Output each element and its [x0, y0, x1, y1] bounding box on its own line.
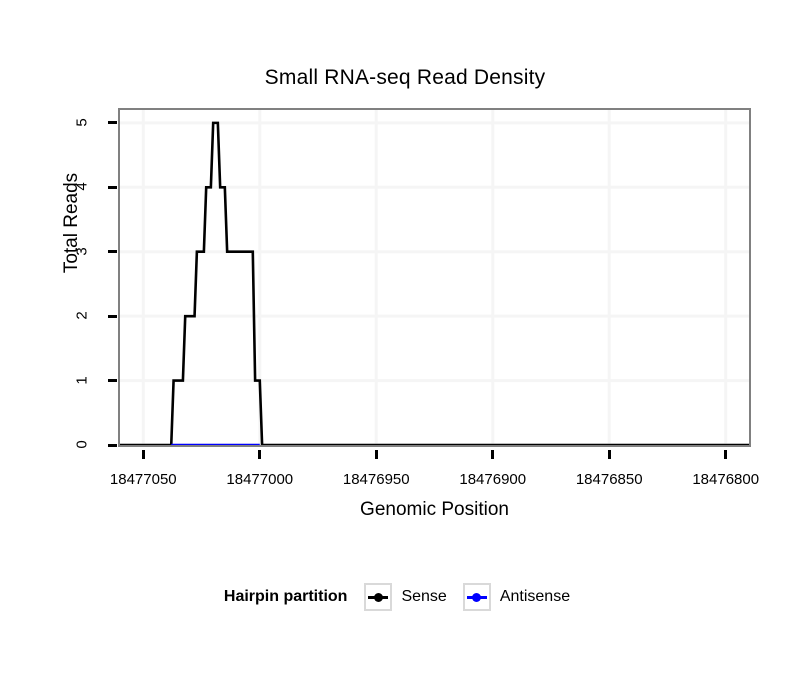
y-tick-mark [108, 379, 117, 382]
series-line-sense [120, 123, 749, 445]
y-tick-mark [108, 444, 117, 447]
x-tick-mark [142, 450, 145, 459]
legend-key-point-icon [374, 593, 383, 602]
chart-legend: Hairpin partition SenseAntisense [0, 580, 810, 614]
x-tick-mark [491, 450, 494, 459]
x-tick-mark [375, 450, 378, 459]
y-tick-label: 2 [74, 296, 91, 336]
legend-item-antisense[interactable]: Antisense [463, 583, 570, 611]
x-axis-label: Genomic Position [118, 499, 751, 521]
plot-panel [118, 108, 751, 447]
x-tick-mark [258, 450, 261, 459]
y-tick-label: 4 [74, 167, 91, 207]
y-tick-label: 3 [74, 231, 91, 271]
chart-figure: Small RNA-seq Read Density Total Reads G… [0, 0, 810, 690]
legend-key-sense [364, 583, 392, 611]
y-tick-mark [108, 186, 117, 189]
x-tick-mark [608, 450, 611, 459]
plot-area [120, 110, 749, 445]
y-tick-label: 5 [74, 102, 91, 142]
x-tick-label: 18477000 [200, 471, 320, 488]
x-tick-label: 18477050 [83, 471, 203, 488]
y-tick-mark [108, 315, 117, 318]
legend-label: Antisense [500, 588, 570, 606]
y-tick-label: 1 [74, 360, 91, 400]
y-axis-label: Total Reads [61, 133, 83, 313]
x-tick-label: 18476900 [433, 471, 553, 488]
x-tick-label: 18476850 [549, 471, 669, 488]
x-tick-label: 18476950 [316, 471, 436, 488]
x-tick-label: 18476800 [666, 471, 786, 488]
legend-title: Hairpin partition [224, 588, 348, 606]
chart-title: Small RNA-seq Read Density [0, 66, 810, 90]
y-tick-label: 0 [74, 425, 91, 465]
y-tick-mark [108, 121, 117, 124]
legend-item-sense[interactable]: Sense [364, 583, 446, 611]
x-tick-mark [724, 450, 727, 459]
legend-key-antisense [463, 583, 491, 611]
legend-label: Sense [401, 588, 446, 606]
legend-key-point-icon [472, 593, 481, 602]
y-tick-mark [108, 250, 117, 253]
gridlines [120, 110, 749, 445]
